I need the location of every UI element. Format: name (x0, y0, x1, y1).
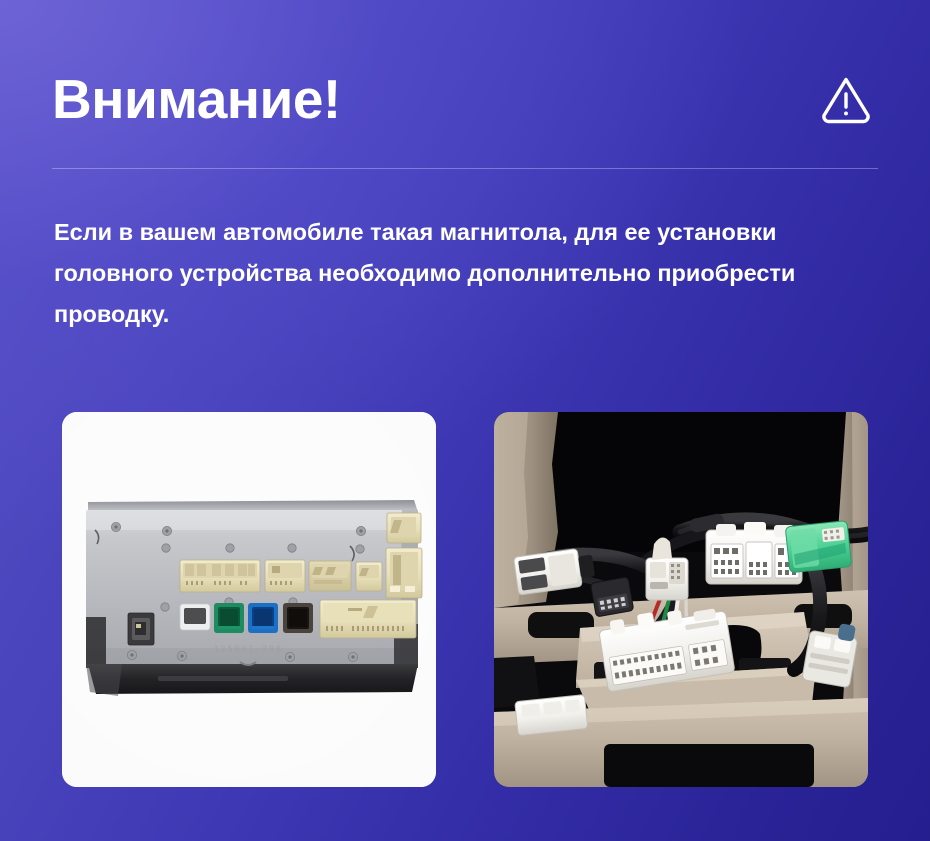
warning-slide: Внимание! Если в вашем автомобиле такая … (0, 0, 930, 841)
slide-header: Внимание! (52, 56, 878, 142)
svg-text:135861-388: 135861-388 (213, 645, 282, 655)
page-title: Внимание! (52, 72, 341, 127)
head-unit-rear-photo: 135861-388 (62, 412, 436, 787)
dash-wiring-harness-photo (494, 412, 868, 787)
header-divider (52, 168, 878, 169)
body-text: Если в вашем автомобиле такая магнитола,… (54, 212, 878, 335)
warning-triangle-icon (818, 71, 874, 127)
photo-gallery: 135861-388 (62, 412, 868, 787)
